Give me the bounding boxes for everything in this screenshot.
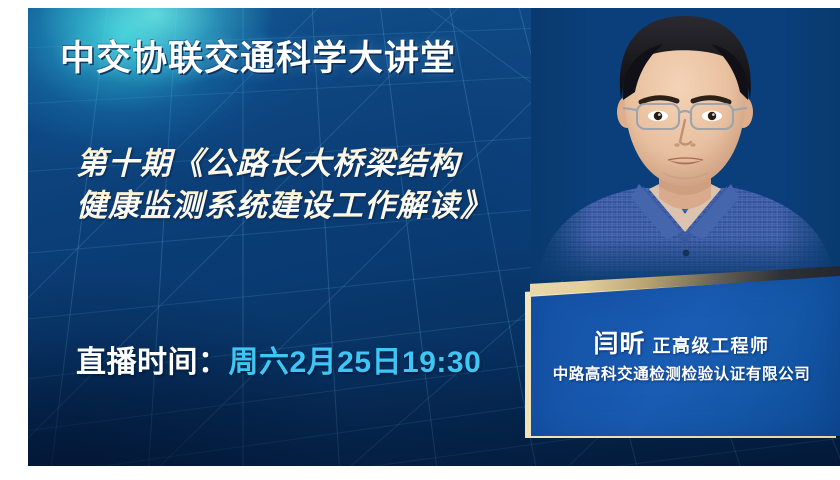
poster-canvas: 中交协联交通科学大讲堂 第十期《公路长大桥梁结构 健康监测系统建设工作解读》 直… xyxy=(28,8,840,466)
speaker-name: 闫昕 xyxy=(593,330,645,358)
subtitle-line-2: 健康监测系统建设工作解读》 xyxy=(76,185,596,227)
speaker-organization: 中路高科交通检测检验认证有限公司 xyxy=(531,362,832,384)
subtitle: 第十期《公路长大桥梁结构 健康监测系统建设工作解读》 xyxy=(76,143,596,226)
live-time-label: 直播时间： xyxy=(76,346,229,379)
live-time: 直播时间：周六2月25日19:30 xyxy=(76,337,481,381)
poster-frame: 中交协联交通科学大讲堂 第十期《公路长大桥梁结构 健康监测系统建设工作解读》 直… xyxy=(0,0,840,480)
live-time-value: 周六2月25日19:30 xyxy=(229,346,482,379)
subtitle-line-1: 第十期《公路长大桥梁结构 xyxy=(76,143,596,185)
speaker-job-title: 正高级工程师 xyxy=(653,336,770,356)
speaker-info-panel: 闫昕正高级工程师 中路高科交通检测检验认证有限公司 xyxy=(525,254,840,444)
panel-body: 闫昕正高级工程师 中路高科交通检测检验认证有限公司 xyxy=(531,276,840,436)
speaker-name-row: 闫昕正高级工程师 xyxy=(531,324,832,360)
page-title: 中交协联交通科学大讲堂 xyxy=(60,30,456,81)
